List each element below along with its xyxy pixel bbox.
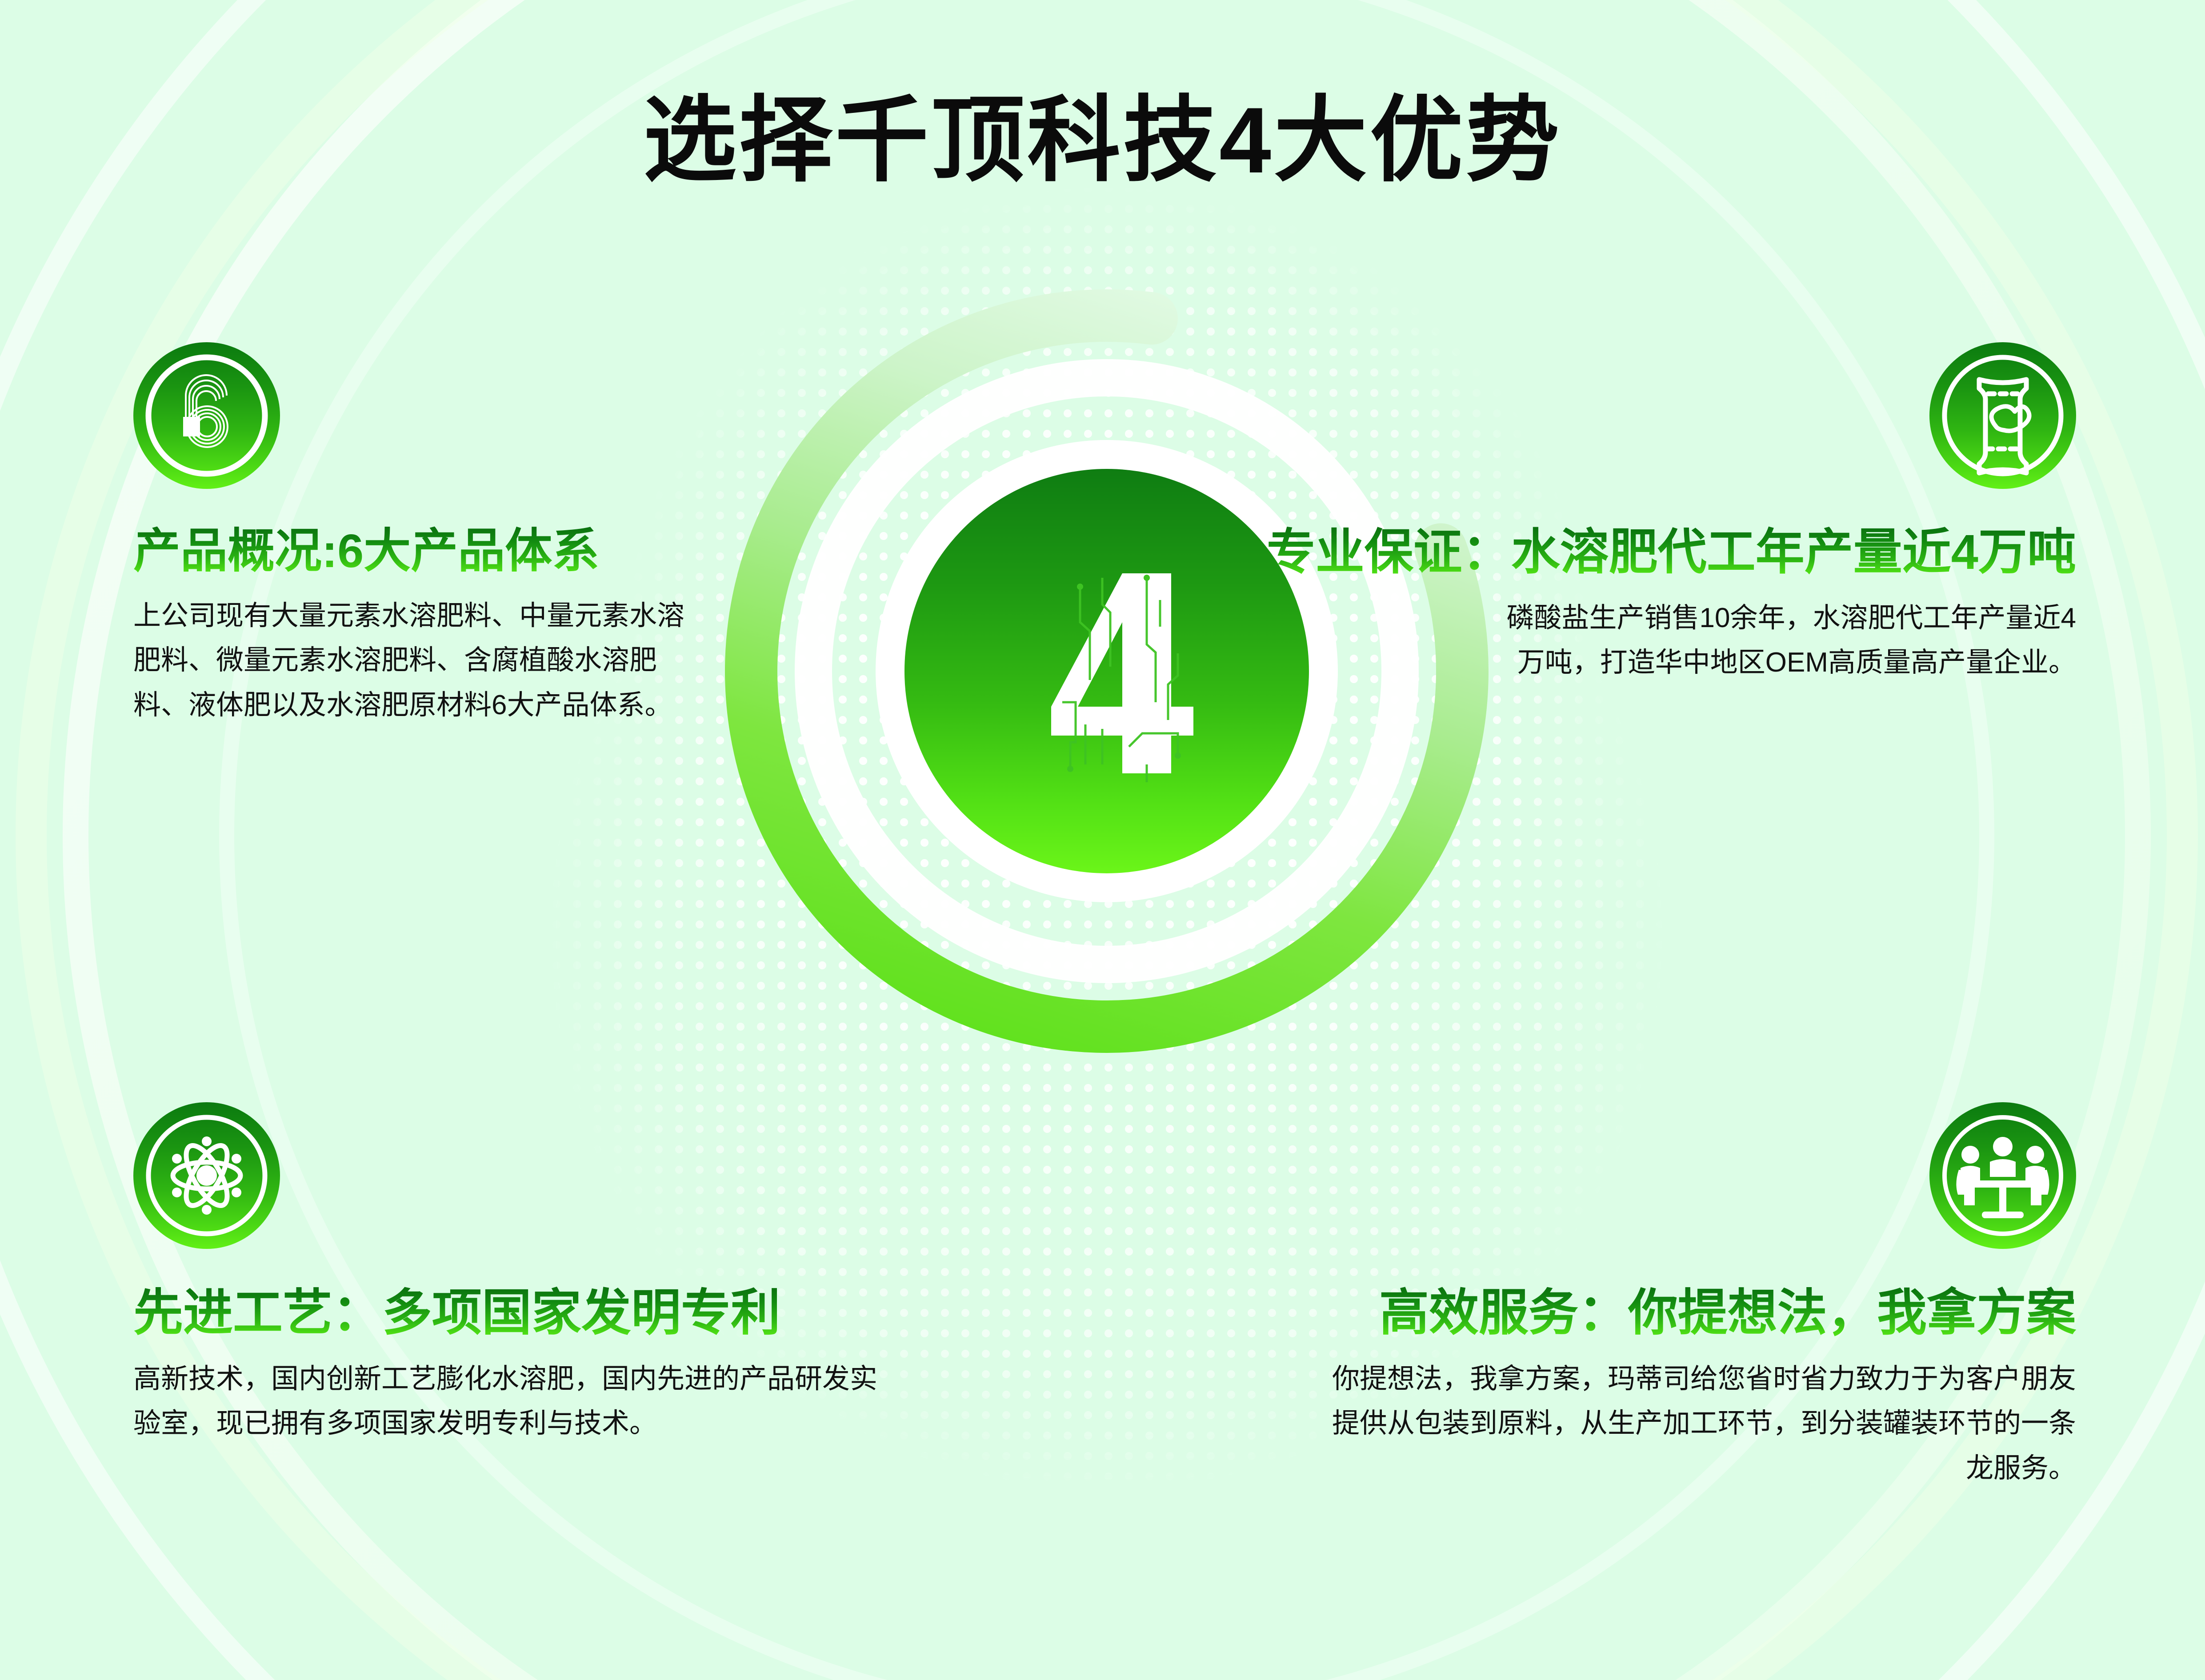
page-title: 选择千顶科技4大优势: [0, 89, 2205, 192]
advantage-block-top-right: 专业保证：水溶肥代工年产量近4万吨 磷酸盐生产销售10余年，水溶肥代工年产量近4…: [1187, 342, 2076, 685]
infographic-canvas: 选择千顶科技4大优势: [0, 0, 2205, 1680]
number-6-rings-icon: [133, 342, 280, 489]
advantage-body: 磷酸盐生产销售10余年，水溶肥代工年产量近4万吨，打造华中地区OEM高质量高产量…: [1503, 596, 2076, 685]
advantage-block-bottom-left: 先进工艺：多项国家发明专利 高新技术，国内创新工艺膨化水溶肥，国内先进的产品研发…: [133, 1102, 898, 1446]
atom-icon: [133, 1102, 280, 1249]
advantage-heading: 高效服务：你提想法，我拿方案: [1312, 1284, 2076, 1342]
advantage-body: 高新技术，国内创新工艺膨化水溶肥，国内先进的产品研发实验室，现已拥有多项国家发明…: [133, 1357, 889, 1446]
advantage-heading: 专业保证：水溶肥代工年产量近4万吨: [1187, 524, 2076, 581]
meeting-table-icon: [1929, 1102, 2076, 1249]
advantage-block-bottom-right: 高效服务：你提想法，我拿方案 你提想法，我拿方案，玛蒂司给您省时省力致力于为客户…: [1312, 1102, 2076, 1491]
advantage-block-top-left: 产品概况:6大产品体系 上公司现有大量元素水溶肥料、中量元素水溶肥料、微量元素水…: [133, 342, 720, 728]
advantage-heading: 产品概况:6大产品体系: [133, 524, 720, 579]
fertilizer-bag-icon: [1929, 342, 2076, 489]
advantage-body: 你提想法，我拿方案，玛蒂司给您省时省力致力于为客户朋友提供从包装到原料，从生产加…: [1325, 1357, 2076, 1491]
advantage-heading: 先进工艺：多项国家发明专利: [133, 1284, 898, 1342]
advantage-body: 上公司现有大量元素水溶肥料、中量元素水溶肥料、微量元素水溶肥料、含腐植酸水溶肥料…: [133, 594, 693, 728]
